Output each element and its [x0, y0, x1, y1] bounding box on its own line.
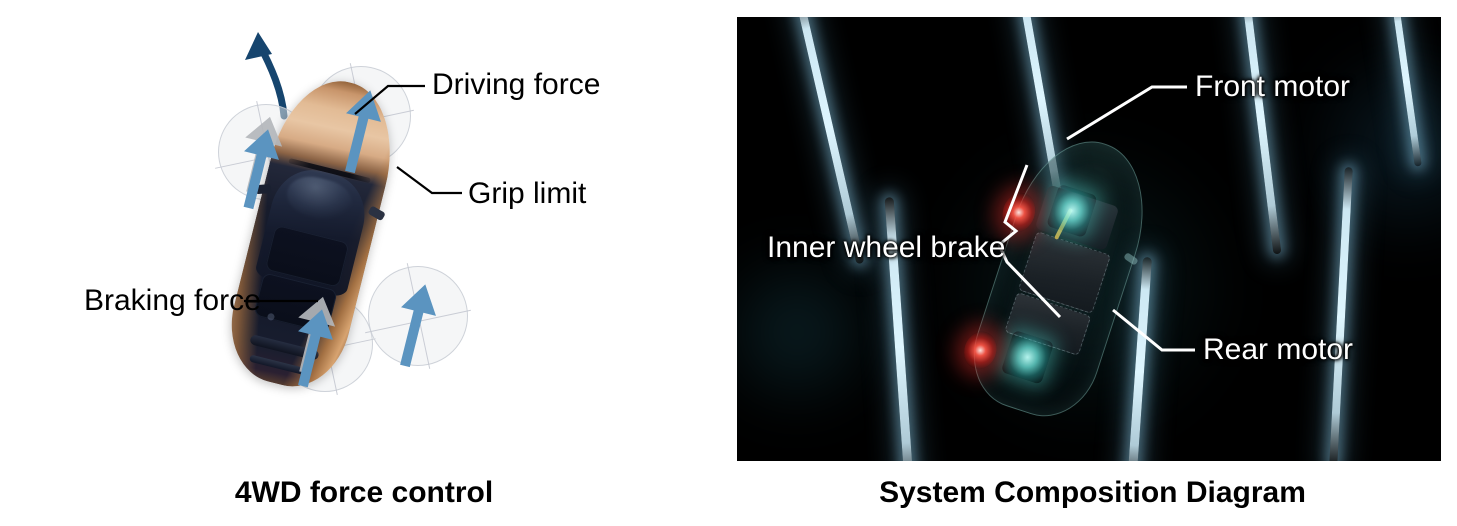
night-render-image: Front motor Inner wheel brake Rear motor: [737, 17, 1441, 461]
right-panel-system-composition: Front motor Inner wheel brake Rear motor…: [728, 0, 1457, 526]
label-braking-force: Braking force: [84, 286, 261, 316]
left-figure-area: Driving force Grip limit Braking force: [0, 0, 728, 460]
label-rear-motor: Rear motor: [1203, 335, 1353, 365]
label-front-motor: Front motor: [1195, 72, 1350, 102]
label-driving-force: Driving force: [432, 70, 600, 100]
right-panel-caption: System Composition Diagram: [728, 476, 1457, 510]
label-grip-limit: Grip limit: [468, 179, 586, 209]
left-panel-4wd-force-control: Driving force Grip limit Braking force 4…: [0, 0, 728, 526]
label-inner-wheel-brake: Inner wheel brake: [767, 233, 1005, 263]
left-panel-caption: 4WD force control: [0, 476, 728, 510]
figure-root: Driving force Grip limit Braking force 4…: [0, 0, 1457, 526]
